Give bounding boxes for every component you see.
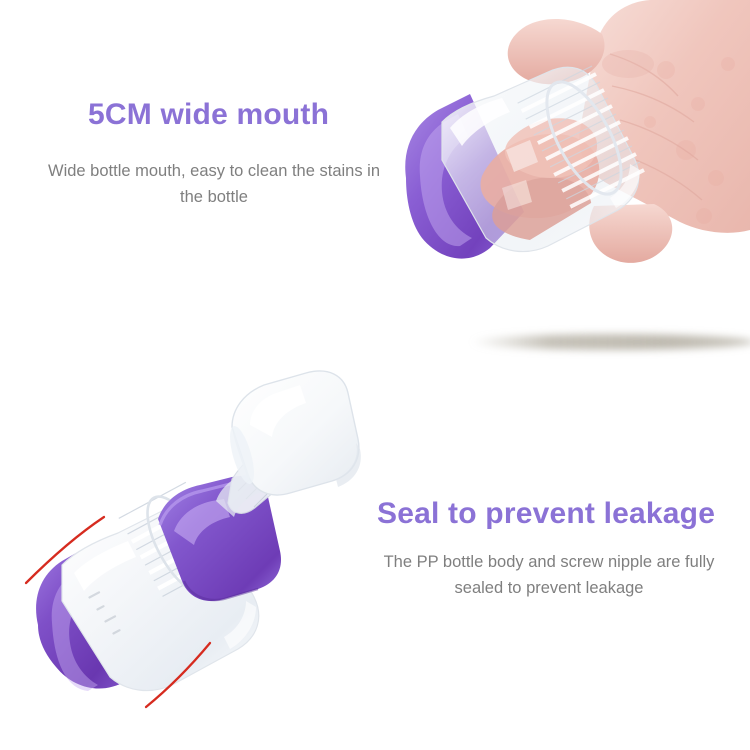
arm-cast-shadow [470,334,750,350]
body-copy-seal-leakage: The PP bottle body and screw nipple are … [381,549,717,601]
body-copy-wide-mouth: Wide bottle mouth, easy to clean the sta… [48,158,380,210]
product-feature-page: 5CM wide mouth Wide bottle mouth, easy t… [0,0,750,750]
photo-hand-in-wide-mouth-bottle [398,0,750,300]
bottle-cap-part [225,371,361,495]
headline-wide-mouth: 5CM wide mouth [88,98,329,132]
headline-seal-leakage: Seal to prevent leakage [377,497,715,531]
photo-exploded-bottle-parts [18,375,363,720]
